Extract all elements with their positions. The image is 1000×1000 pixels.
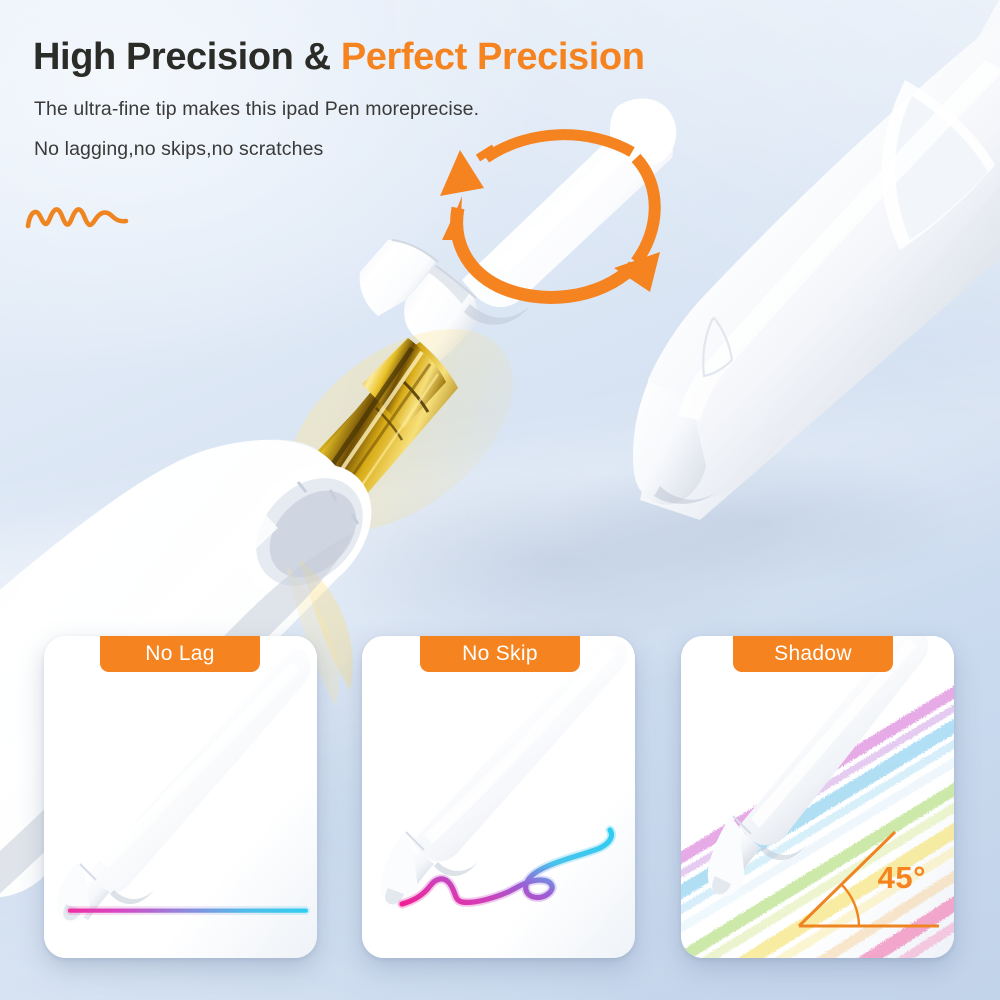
card-1-label-chip: No Lag [100,636,260,672]
card-2-label-chip: No Skip [420,636,580,672]
feature-card-shadow[interactable]: 45° Shadow [681,636,954,958]
gradient-stroke-straight [66,906,310,915]
feature-card-no-lag[interactable]: No Lag [44,636,317,958]
headline-accent-text: Perfect Precision [341,36,645,78]
subtitle-line-2: No lagging,no skips,no scratches [34,138,323,161]
angle-label: 45° [878,860,926,896]
card-2-label: No Skip [462,642,538,666]
right-stylus-body [633,0,1000,520]
card-2-illustration [362,636,635,958]
card-1-illustration [44,636,317,958]
orange-squiggle-icon [22,196,132,242]
page-title: High Precision & Perfect Precision [33,36,645,79]
feature-card-no-skip[interactable]: No Skip [362,636,635,958]
card-1-label: No Lag [145,642,215,666]
card-3-label-chip: Shadow [733,636,893,672]
pen-shadow-right [550,450,970,590]
headline-dark-text: High Precision & [33,36,331,78]
subtitle-line-1: The ultra-fine tip makes this ipad Pen m… [34,98,479,121]
card-3-illustration [681,636,954,958]
card-3-label: Shadow [774,642,852,666]
